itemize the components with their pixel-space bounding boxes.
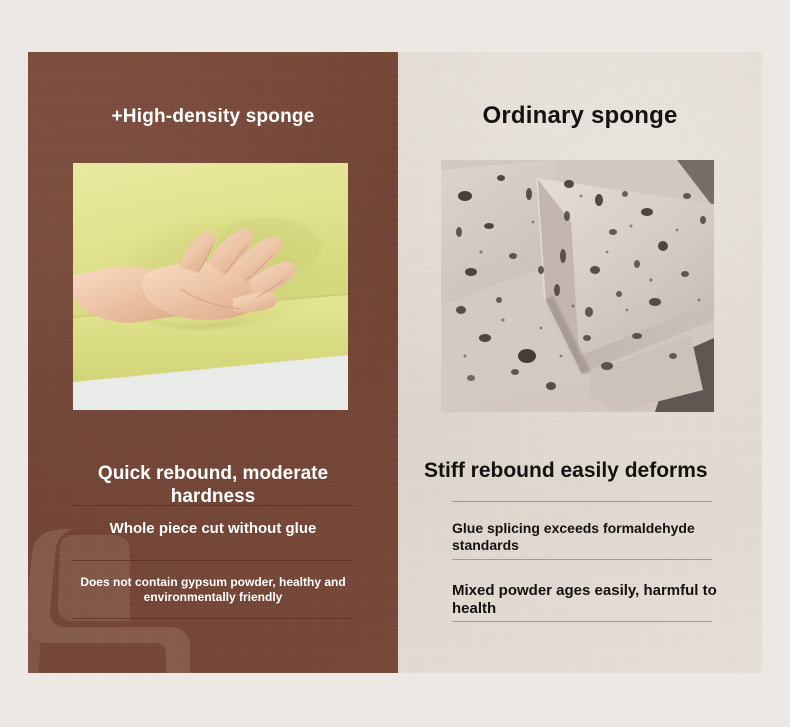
right-comparison-panel: Ordinary sponge [398, 52, 762, 673]
left-feature-1-text: Quick rebound, moderate hardness [72, 454, 354, 508]
right-panel-title: Ordinary sponge [398, 102, 762, 130]
left-feature-2: Whole piece cut without glue [28, 506, 398, 561]
right-feature-3-text: Mixed powder ages easily, harmful to hea… [424, 560, 736, 619]
left-feature-3-text: Does not contain gypsum powder, healthy … [72, 561, 354, 604]
ordinary-sponge-photo [441, 160, 714, 412]
right-feature-2-text: Glue splicing exceeds formaldehyde stand… [424, 502, 736, 554]
left-feature-list: Quick rebound, moderate hardness Whole p… [28, 454, 398, 619]
right-feature-list: Stiff rebound easily deforms Glue splici… [398, 450, 762, 622]
left-feature-2-text: Whole piece cut without glue [72, 506, 354, 538]
left-feature-1: Quick rebound, moderate hardness [28, 454, 398, 506]
left-panel-title: +High-density sponge [28, 106, 398, 128]
high-density-sponge-photo [73, 163, 348, 410]
right-feature-3-divider [452, 621, 712, 622]
right-feature-2: Glue splicing exceeds formaldehyde stand… [398, 502, 762, 560]
left-feature-3-divider [72, 618, 354, 619]
comparison-infographic: +High-density sponge [0, 0, 790, 727]
right-feature-1-text: Stiff rebound easily deforms [424, 450, 736, 484]
left-comparison-panel: +High-density sponge [28, 52, 398, 673]
right-feature-3: Mixed powder ages easily, harmful to hea… [398, 560, 762, 622]
right-feature-1: Stiff rebound easily deforms [398, 450, 762, 502]
left-feature-3: Does not contain gypsum powder, healthy … [28, 561, 398, 619]
